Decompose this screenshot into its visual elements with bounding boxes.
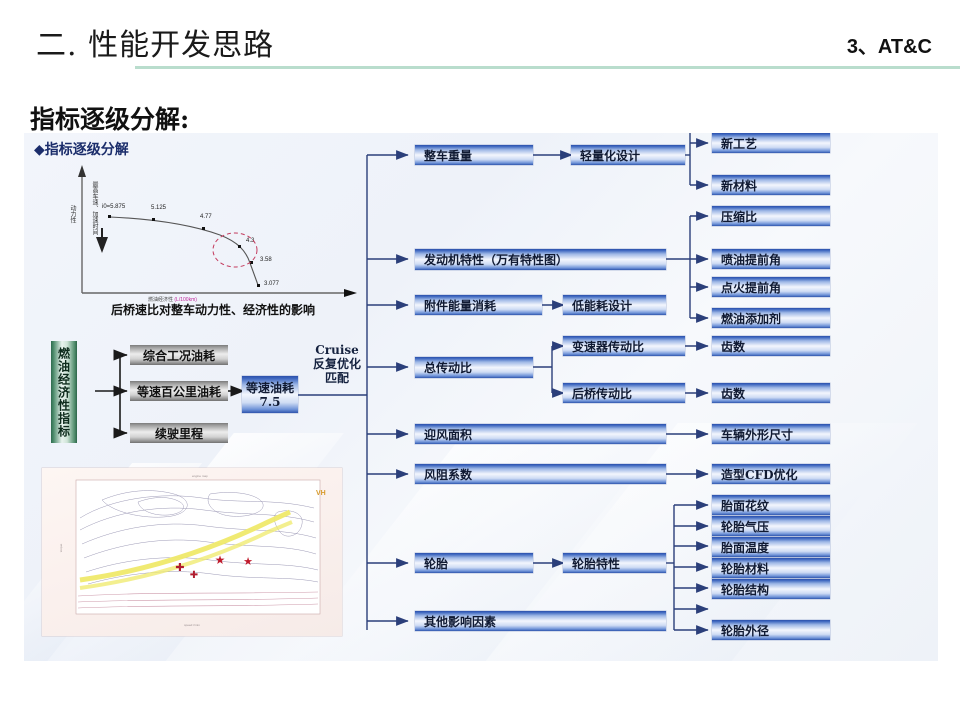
svg-text:★: ★ <box>243 556 253 568</box>
svg-text:✚: ✚ <box>190 570 198 581</box>
section-label: 3、AT&C <box>847 30 932 59</box>
mini-chart-ylabel-inner: 最高车速、加速时间 <box>90 181 99 235</box>
node-compression-ratio[interactable]: 压缩比 <box>712 206 830 226</box>
node-tread-pattern[interactable]: 胎面花纹 <box>712 495 830 515</box>
node-rear-axle-ratio[interactable]: 后桥传动比 <box>563 383 685 403</box>
node-new-process[interactable]: 新工艺 <box>712 133 830 153</box>
node-drag-coefficient[interactable]: 风阻系数 <box>415 464 666 484</box>
node-ignition-advance-angle[interactable]: 点火提前角 <box>712 277 830 297</box>
node-injection-advance-angle[interactable]: 喷油提前角 <box>712 249 830 269</box>
kpi-item-box[interactable]: 等速百公里油耗 <box>130 381 228 401</box>
node-transmission-ratio[interactable]: 变速器传动比 <box>563 336 685 356</box>
engine-map-svg: ✚ ✚ ★ ★ engine map speed r/min torque <box>42 468 342 636</box>
kpi-item-box[interactable]: 综合工况油耗 <box>130 345 228 365</box>
diagram-canvas: ◆指标逐级分解 动力性 最高车速、加速时间 燃油经济性 (L/100km <box>24 133 938 661</box>
node-engine-characteristics[interactable]: 发动机特性（万有特性图） <box>415 249 666 270</box>
engine-map-legend-vh: VH <box>316 490 326 497</box>
svg-text:engine map: engine map <box>192 474 208 478</box>
mini-chart-caption: 后桥速比对整车动力性、经济性的影响 <box>68 301 358 318</box>
cruise-input-name: 等速油耗 <box>246 381 294 395</box>
node-tire-material[interactable]: 轮胎材料 <box>712 558 830 578</box>
cruise-hub-label: Cruise 反复优化匹配 <box>312 343 362 385</box>
node-new-material[interactable]: 新材料 <box>712 175 830 195</box>
node-other-factors[interactable]: 其他影响因素 <box>415 611 666 631</box>
data-label: 4.77 <box>200 214 212 220</box>
node-fuel-additive[interactable]: 燃油添加剂 <box>712 308 830 328</box>
node-tooth-count-axle[interactable]: 齿数 <box>712 383 830 403</box>
node-tire[interactable]: 轮胎 <box>415 553 533 573</box>
data-label: 3.077 <box>264 281 279 287</box>
engine-map-image: ✚ ✚ ★ ★ engine map speed r/min torque VH <box>42 468 342 636</box>
node-accessory-energy[interactable]: 附件能量消耗 <box>415 295 542 315</box>
node-frontal-area[interactable]: 迎风面积 <box>415 424 666 444</box>
kpi-item-box[interactable]: 续驶里程 <box>130 423 228 443</box>
cruise-input-box[interactable]: 等速油耗 7.5 <box>242 376 298 413</box>
node-vehicle-dimensions[interactable]: 车辆外形尺寸 <box>712 424 830 444</box>
node-low-energy-design[interactable]: 低能耗设计 <box>563 295 666 315</box>
data-label: i0=5.875 <box>102 204 125 210</box>
node-tread-temperature[interactable]: 胎面温度 <box>712 537 830 557</box>
mini-chart-ylabel-outer: 动力性 <box>68 205 77 223</box>
svg-text:✚: ✚ <box>175 562 184 574</box>
data-label: 5.125 <box>151 205 166 211</box>
node-vehicle-weight[interactable]: 整车重量 <box>415 145 533 165</box>
kpi-root-box[interactable]: 燃油经济性指标 <box>51 341 77 443</box>
data-label: 4.3 <box>246 238 254 244</box>
page-title: 二. 性能开发思路 <box>36 20 274 64</box>
node-lightweight-design[interactable]: 轻量化设计 <box>571 145 685 165</box>
header-divider <box>135 66 960 69</box>
node-tire-characteristics[interactable]: 轮胎特性 <box>563 553 666 573</box>
subtitle: 指标逐级分解: <box>30 100 189 136</box>
panel-heading: ◆指标逐级分解 <box>34 139 129 159</box>
cruise-input-value: 7.5 <box>260 395 281 409</box>
node-tooth-count-transmission[interactable]: 齿数 <box>712 336 830 356</box>
svg-text:torque: torque <box>59 543 63 552</box>
node-tire-outer-diameter[interactable]: 轮胎外径 <box>712 620 830 640</box>
node-total-gear-ratio[interactable]: 总传动比 <box>415 357 533 378</box>
node-tire-pressure[interactable]: 轮胎气压 <box>712 516 830 536</box>
slide-root: 二. 性能开发思路 3、AT&C 指标逐级分解: ◆指标逐级分解 <box>0 0 960 720</box>
svg-text:speed r/min: speed r/min <box>184 623 200 627</box>
data-label: 3.58 <box>260 257 272 263</box>
svg-text:★: ★ <box>215 553 226 567</box>
node-tire-structure[interactable]: 轮胎结构 <box>712 579 830 599</box>
node-cfd-optimization[interactable]: 造型CFD优化 <box>712 464 830 484</box>
